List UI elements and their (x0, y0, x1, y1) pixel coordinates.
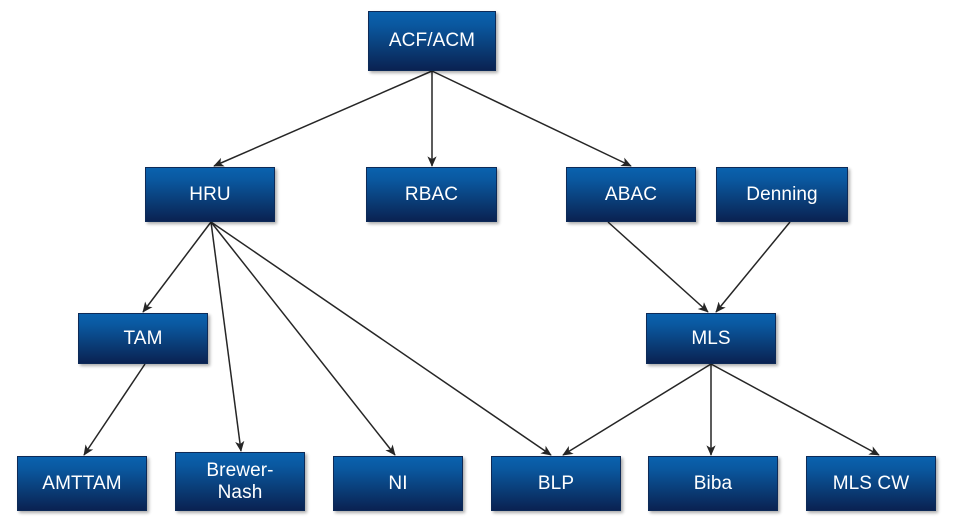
edge-acf_acm-to-hru (214, 71, 432, 166)
edge-hru-to-brewernash (211, 222, 241, 451)
edge-acf_acm-to-abac (432, 71, 631, 166)
edge-layer (0, 0, 955, 521)
edge-mls-to-blp (563, 364, 711, 455)
edge-abac-to-mls (608, 222, 708, 312)
node-abac[interactable]: ABAC (566, 167, 696, 222)
diagram-canvas: ACF/ACMHRURBACABACDenningTAMMLSAMTTAMBre… (0, 0, 955, 521)
node-biba[interactable]: Biba (648, 456, 778, 511)
edge-mls-to-mlscw (711, 364, 879, 455)
node-mls[interactable]: MLS (646, 313, 776, 364)
edge-denning-to-mls (716, 222, 790, 312)
node-hru[interactable]: HRU (145, 167, 275, 222)
edge-hru-to-tam (143, 222, 211, 312)
node-amttam[interactable]: AMTTAM (17, 456, 147, 511)
edge-hru-to-blp (211, 222, 551, 455)
node-denning[interactable]: Denning (716, 167, 848, 222)
edge-tam-to-amttam (84, 364, 145, 455)
node-mlscw[interactable]: MLS CW (806, 456, 936, 511)
node-tam[interactable]: TAM (78, 313, 208, 364)
edge-hru-to-ni (211, 222, 395, 455)
node-blp[interactable]: BLP (491, 456, 621, 511)
node-acf_acm[interactable]: ACF/ACM (368, 11, 496, 71)
node-rbac[interactable]: RBAC (366, 167, 497, 222)
node-brewernash[interactable]: Brewer- Nash (175, 452, 305, 511)
node-ni[interactable]: NI (333, 456, 463, 511)
